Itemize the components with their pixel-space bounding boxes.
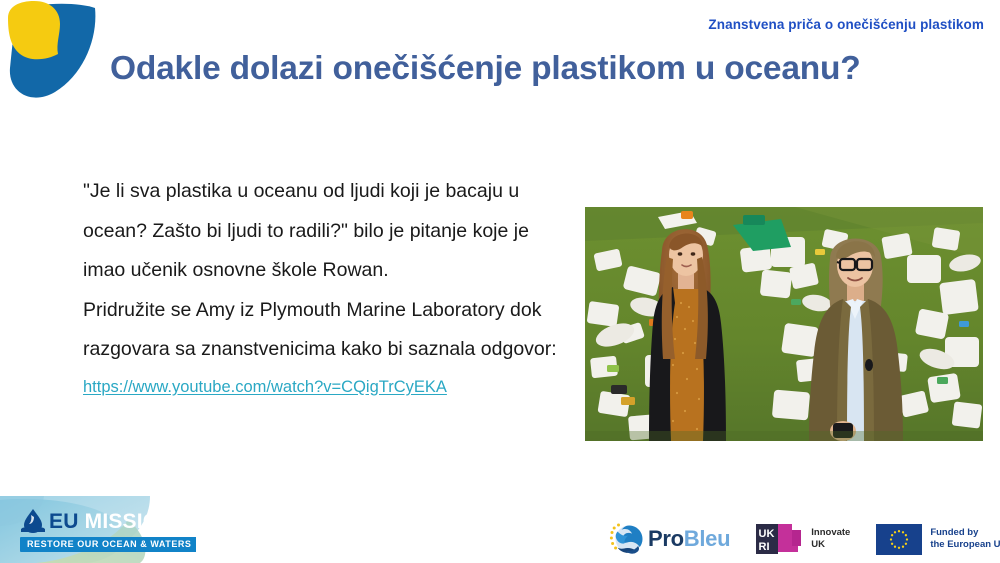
body-paragraph-invite: Pridružite se Amy iz Plymouth Marine Lab…	[83, 291, 558, 370]
page-title: Odakle dolazi onečišćenje plastikom u oc…	[110, 48, 870, 89]
eu-missions-tagline: RESTORE OUR OCEAN & WATERS	[27, 540, 191, 549]
slide-canvas: Znanstvena priča o onečišćenju plastikom…	[0, 0, 1000, 563]
innovate-uk-logo: UK RI Innovate UK	[756, 524, 850, 554]
probleu-word-bleu: Bleu	[684, 526, 730, 551]
header-eyebrow-text: Znanstvena priča o onečišćenju plastikom	[708, 17, 984, 32]
ukri-mark-icon: UK RI	[756, 524, 804, 554]
probleu-wordmark: ProBleu	[648, 528, 730, 550]
svg-text:RI: RI	[759, 541, 770, 553]
innovate-uk-text: Innovate UK	[811, 527, 850, 550]
eu-mission-brandmark-icon	[0, 0, 106, 104]
water-drop-icon	[20, 508, 46, 536]
eu-missions-logo: EU MISSIONS RESTORE OUR OCEAN & WATERS	[0, 496, 196, 563]
video-link[interactable]: https://www.youtube.com/watch?v=CQigTrCy…	[83, 373, 447, 401]
probleu-globe-icon	[608, 522, 644, 556]
video-thumbnail-image[interactable]	[585, 207, 983, 441]
eu-funding-line-1: Funded by	[930, 527, 1000, 539]
body-text-block: "Je li sva plastika u oceanu od ljudi ko…	[83, 172, 558, 401]
svg-text:UK: UK	[759, 528, 775, 540]
eu-funding-text: Funded by the European Union	[930, 527, 1000, 550]
innovate-uk-line-1: Innovate	[811, 527, 850, 539]
body-paragraph-quote: "Je li sva plastika u oceanu od ljudi ko…	[83, 172, 558, 291]
eu-missions-word-missions: MISSIONS	[85, 510, 189, 533]
innovate-uk-line-2: UK	[811, 539, 850, 551]
european-union-flag-icon	[876, 524, 922, 555]
eu-missions-tagline-bar: RESTORE OUR OCEAN & WATERS	[20, 537, 196, 552]
probleu-logo: ProBleu	[608, 522, 730, 556]
eu-missions-word-eu: EU	[49, 510, 79, 533]
partner-logos-row: ProBleu UK RI Innovate UK	[608, 519, 1000, 559]
eu-missions-wordmark: EU MISSIONS	[49, 511, 189, 532]
probleu-word-pro: Pro	[648, 526, 684, 551]
eu-funding-logo: Funded by the European Union	[876, 524, 1000, 555]
eu-funding-line-2: the European Union	[930, 539, 1000, 551]
